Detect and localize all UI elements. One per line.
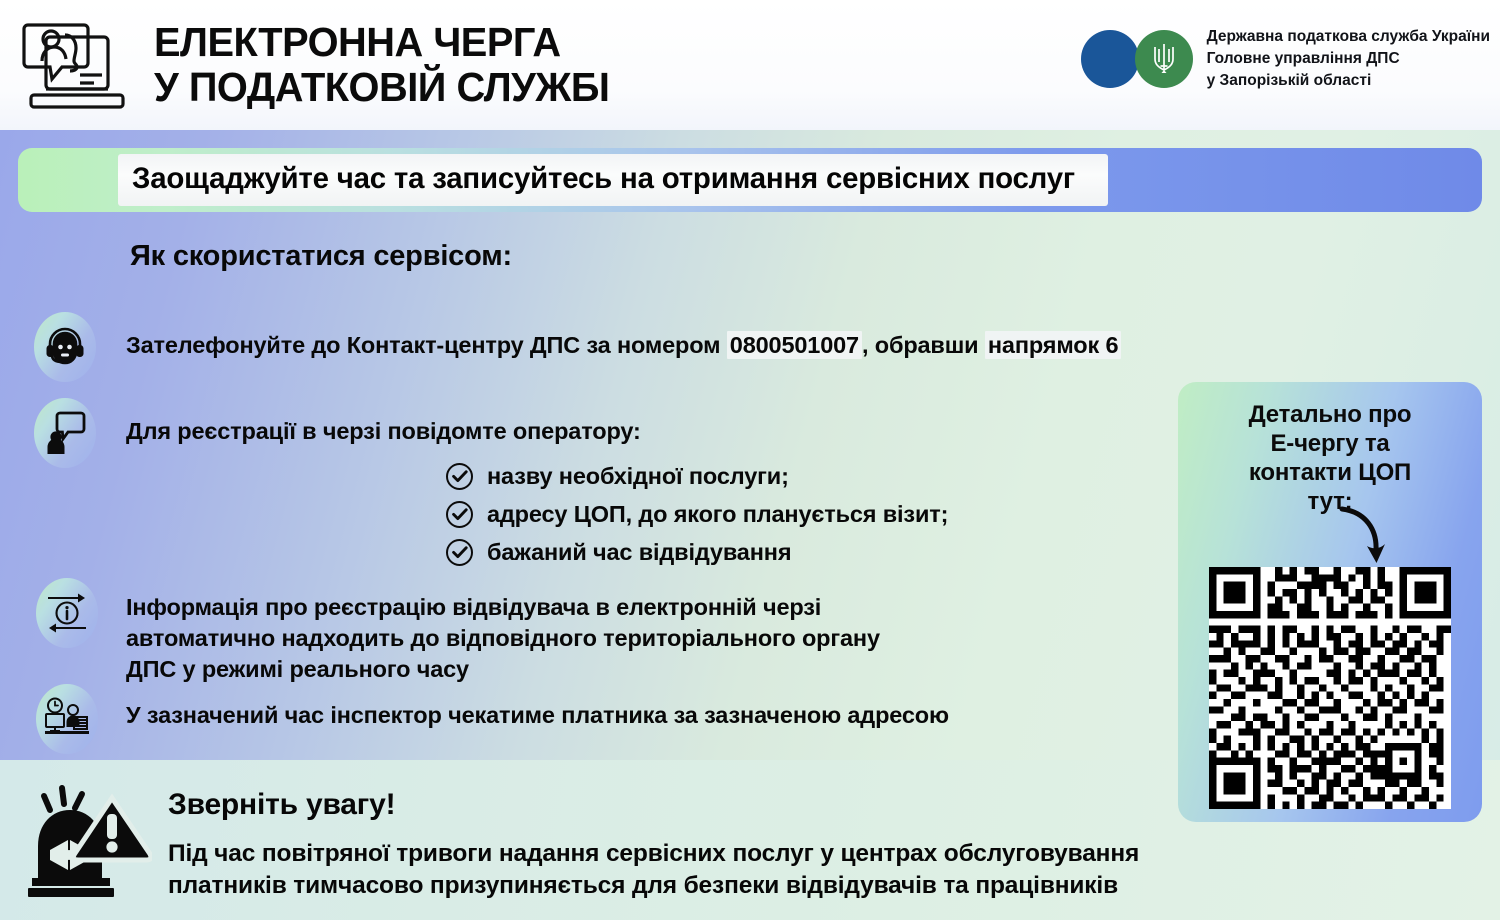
person-speech-bubble-icon xyxy=(34,398,96,468)
clock-inspector-desk-icon xyxy=(36,684,98,754)
step-1-text: Зателефонуйте до Контакт-центру ДПС за н… xyxy=(126,330,1121,361)
contact-center-phone: 0800501007 xyxy=(727,331,862,359)
checklist-item-label: назву необхідної послуги; xyxy=(487,463,789,490)
checklist: назву необхідної послуги; адресу ЦОП, до… xyxy=(446,458,948,572)
headline-banner-text: Заощаджуйте час та записуйтесь на отрима… xyxy=(132,162,1075,196)
organization-text: Державна податкова служба України Головн… xyxy=(1207,26,1490,92)
checklist-item: назву необхідної послуги; xyxy=(446,458,948,494)
qr-panel: Детально про Е-чергу та контакти ЦОП тут… xyxy=(1178,382,1482,822)
step-1-text-before: Зателефонуйте до Контакт-центру ДПС за н… xyxy=(126,332,727,358)
qr-caption: Детально про Е-чергу та контакти ЦОП тут… xyxy=(1178,400,1482,516)
section-subtitle: Як скористатися сервісом: xyxy=(130,240,512,273)
attention-title: Зверніть увагу! xyxy=(168,788,395,822)
checklist-item-label: бажаний час відвідування xyxy=(487,539,791,566)
checklist-item: адресу ЦОП, до якого планується візит; xyxy=(446,496,948,532)
page-title: ЕЛЕКТРОННА ЧЕРГА У ПОДАТКОВІЙ СЛУЖБІ xyxy=(154,20,610,110)
curved-down-arrow-icon xyxy=(1336,506,1406,573)
qr-code-icon[interactable] xyxy=(1209,567,1451,809)
laptop-consultation-icon xyxy=(18,13,136,117)
contact-center-direction: напрямок 6 xyxy=(985,331,1122,359)
step-1-text-middle: , обравши xyxy=(862,332,985,358)
headset-operator-icon xyxy=(34,312,96,382)
air-raid-siren-warning-icon xyxy=(26,778,152,900)
info-exchange-arrows-icon xyxy=(36,578,98,648)
check-icon xyxy=(446,501,473,528)
checklist-item: бажаний час відвідування xyxy=(446,534,948,570)
org-line-1: Державна податкова служба України xyxy=(1207,26,1490,48)
step-4-text: У зазначений час інспектор чекатиме плат… xyxy=(126,700,949,731)
check-icon xyxy=(446,463,473,490)
org-line-2: Головне управління ДПС xyxy=(1207,48,1490,70)
headline-banner: Заощаджуйте час та записуйтесь на отрима… xyxy=(18,148,1482,212)
infographic-page: ЕЛЕКТРОННА ЧЕРГА У ПОДАТКОВІЙ СЛУЖБІ Дер… xyxy=(0,0,1500,920)
checklist-item-label: адресу ЦОП, до якого планується візит; xyxy=(487,501,948,528)
ukraine-trident-icon xyxy=(1151,40,1177,79)
check-icon xyxy=(446,539,473,566)
organization-logo: Державна податкова служба України Головн… xyxy=(1081,26,1490,92)
step-2-text: Для реєстрації в черзі повідомте операто… xyxy=(126,416,641,447)
logo-circle-green xyxy=(1135,30,1193,88)
header-bar: ЕЛЕКТРОННА ЧЕРГА У ПОДАТКОВІЙ СЛУЖБІ Дер… xyxy=(0,0,1500,130)
logo-circle-blue xyxy=(1081,30,1139,88)
headline-banner-pill: Заощаджуйте час та записуйтесь на отрима… xyxy=(118,154,1108,206)
step-3-text: Інформація про реєстрацію відвідувача в … xyxy=(126,592,880,685)
attention-body: Під час повітряної тривоги надання серві… xyxy=(168,838,1139,902)
org-line-3: у Запорізькій області xyxy=(1207,70,1490,92)
